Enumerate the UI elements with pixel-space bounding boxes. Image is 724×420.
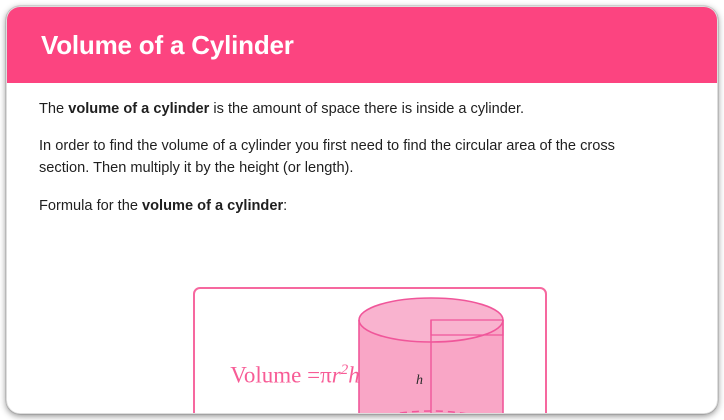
para-2-seg-0: In order to find the volume of a cylinde… <box>39 138 615 177</box>
formula-box: Volume =πr2h <box>193 287 547 414</box>
height-label: h <box>416 373 423 388</box>
card-header: Volume of a Cylinder <box>7 7 717 83</box>
volume-formula: Volume =πr2h <box>215 361 375 389</box>
cylinder-diagram: h r <box>353 297 553 414</box>
para-1-seg-1: volume of a cylinder <box>68 101 209 117</box>
paragraph-definition: The volume of a cylinder is the amount o… <box>39 98 685 121</box>
formula-radius-symbol: r <box>332 363 341 388</box>
cylinder-svg: h r <box>353 297 553 414</box>
formula-equals: = <box>307 363 320 388</box>
page-title: Volume of a Cylinder <box>41 30 294 61</box>
formula-pi: π <box>320 363 332 388</box>
para-3-seg-2: : <box>283 198 287 214</box>
para-1-seg-0: The <box>39 101 68 117</box>
card-body: The volume of a cylinder is the amount o… <box>7 83 717 413</box>
para-3-seg-1: volume of a cylinder <box>142 198 283 214</box>
lesson-card: Volume of a Cylinder The volume of a cyl… <box>6 6 718 414</box>
paragraph-formula-intro: Formula for the volume of a cylinder: <box>39 195 685 218</box>
paragraph-method: In order to find the volume of a cylinde… <box>39 135 639 180</box>
formula-label: Volume <box>230 363 301 388</box>
para-1-seg-2: is the amount of space there is inside a… <box>209 101 524 117</box>
para-3-seg-0: Formula for the <box>39 198 142 214</box>
